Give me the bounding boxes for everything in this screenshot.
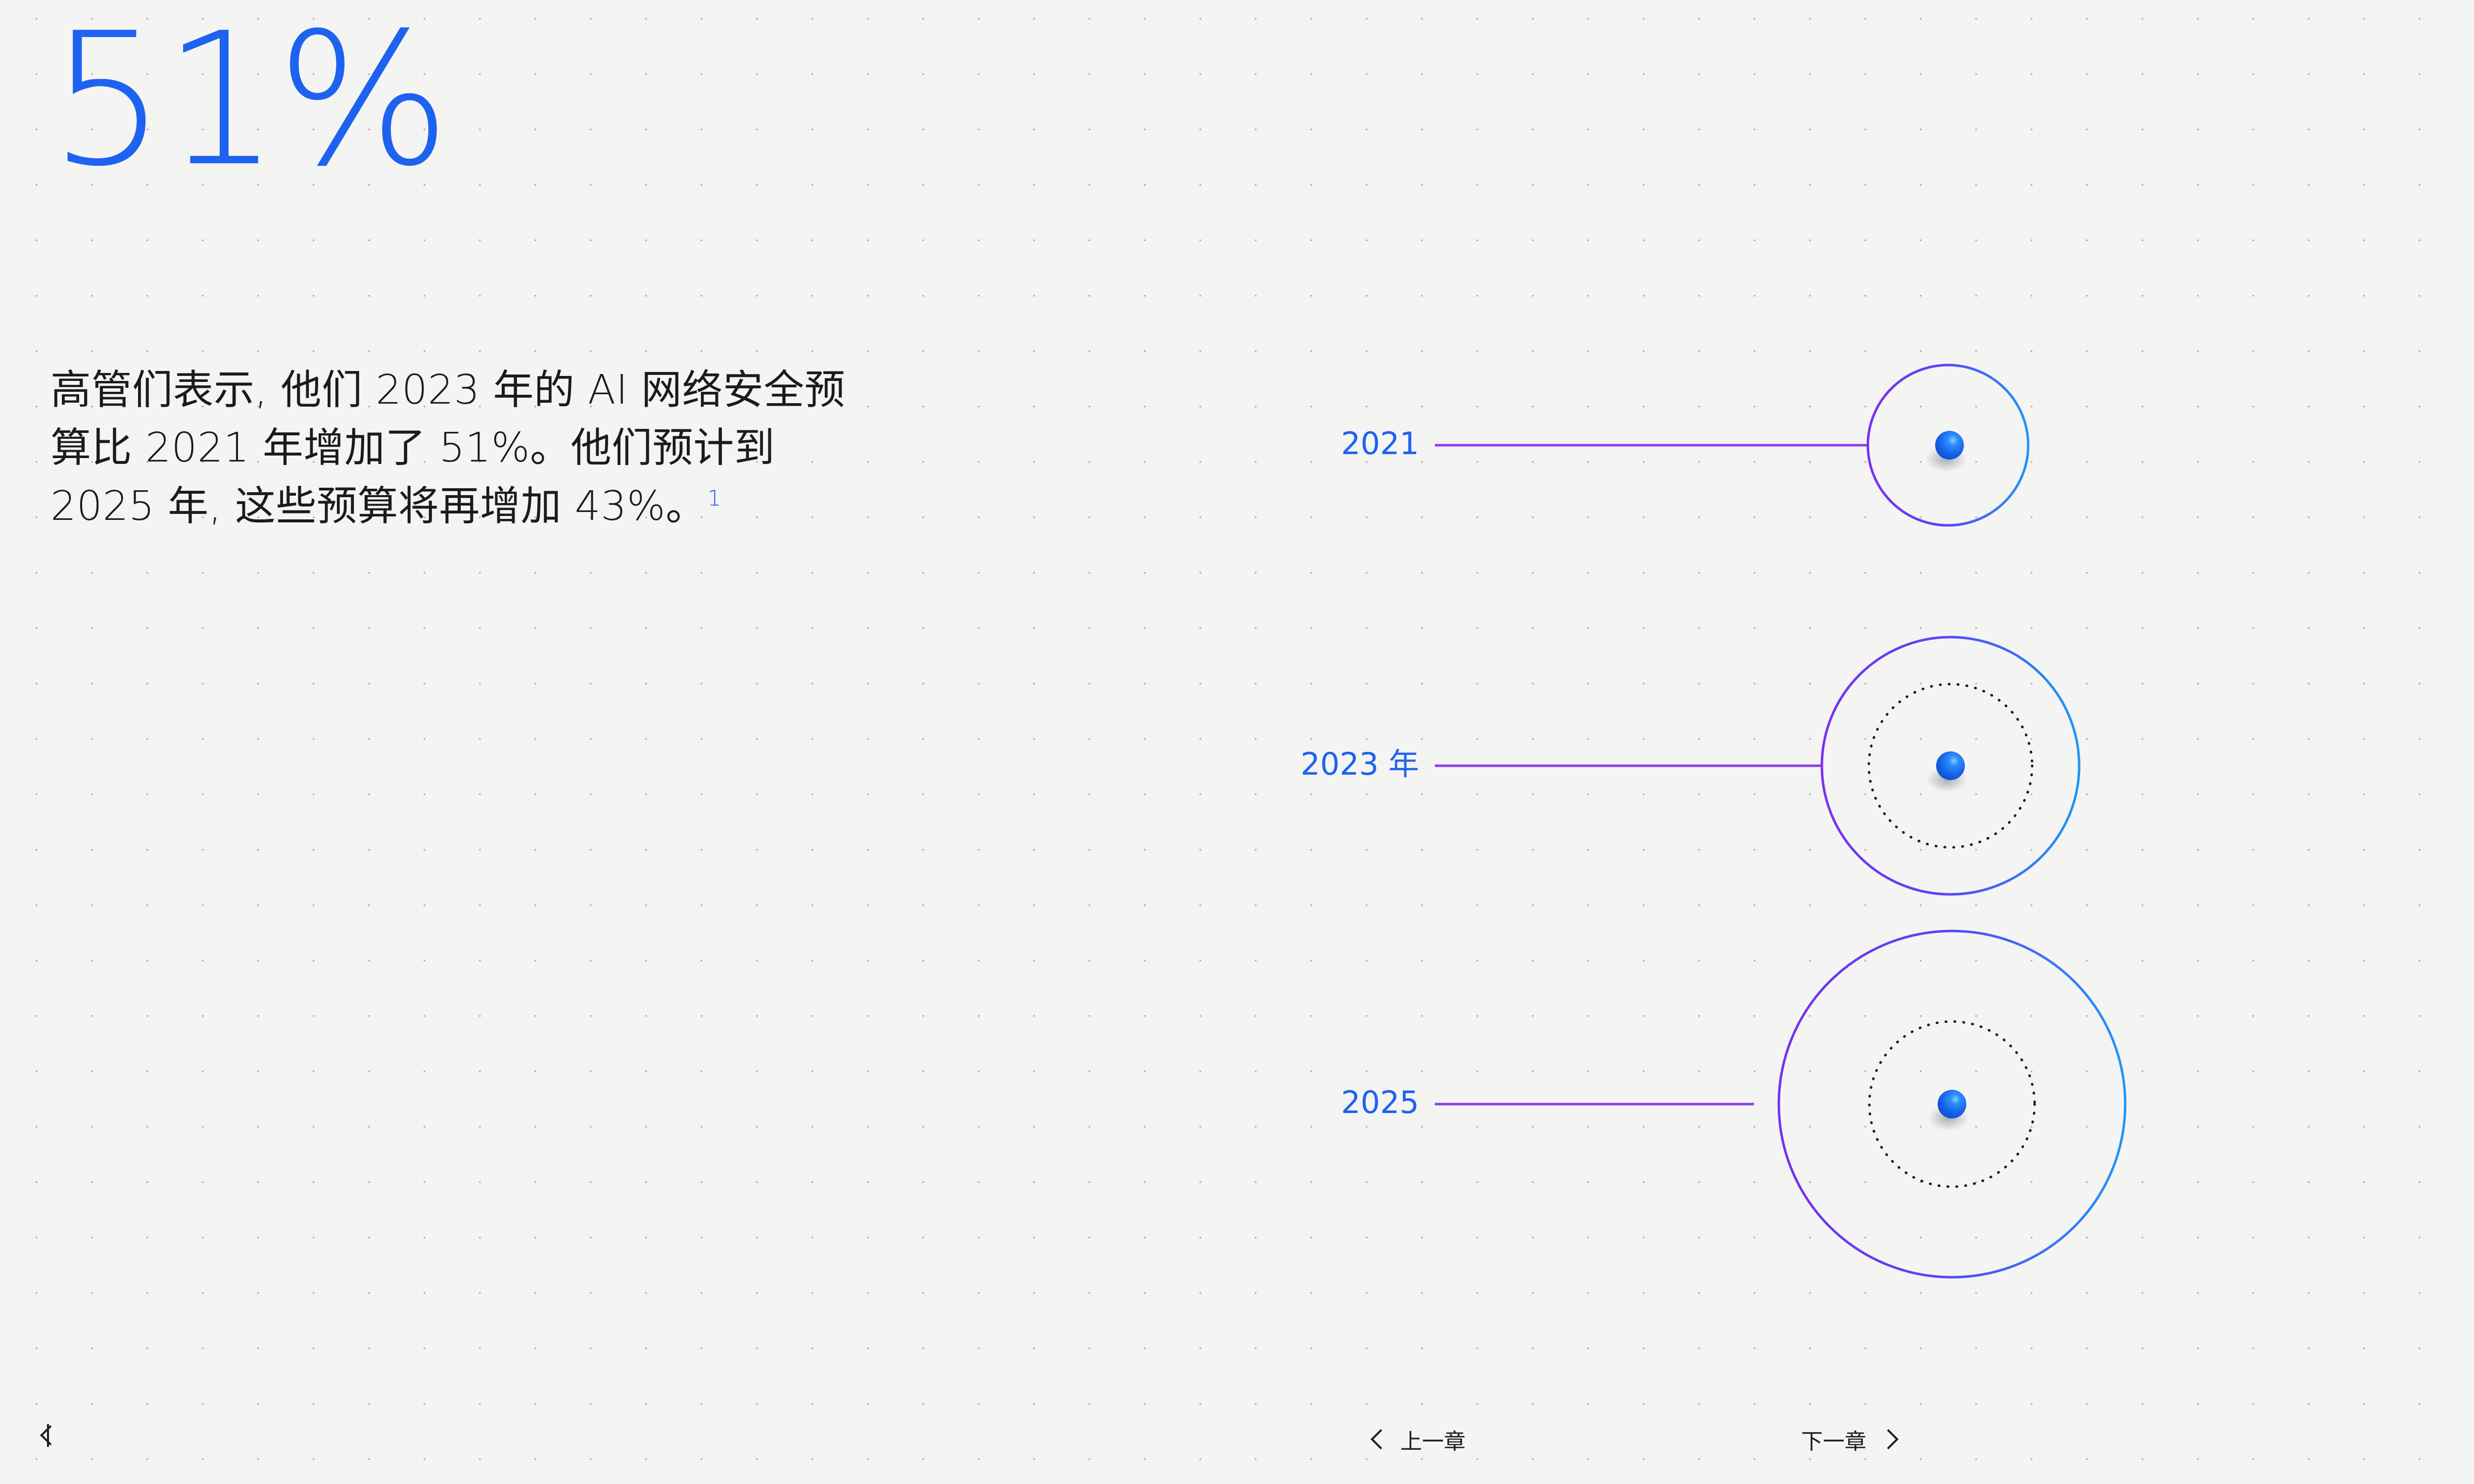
bubble-group-2023: 2023 年 xyxy=(1301,637,2080,894)
bubble-group-2025: 2025 xyxy=(1341,931,2125,1277)
bubble-label-2025[interactable]: 2025 xyxy=(1341,1084,1419,1120)
previous-chapter-label: 上一章 xyxy=(1400,1424,1466,1455)
footer-navigation: 上一章 下一章 8 xyxy=(0,1385,2474,1484)
next-chapter-label: 下一章 xyxy=(1801,1424,1866,1455)
slide-page: 51% 高管们表示, 他们 2023 年的 AI 网络安全预算比 2021 年增… xyxy=(0,0,2474,1484)
page-headline-percentage: 51% xyxy=(49,9,447,192)
bubble-diagram: 2021 2023 年 2025 xyxy=(1286,297,2276,1336)
chevron-left-icon xyxy=(1371,1428,1385,1451)
next-chapter-button[interactable]: 下一章 xyxy=(1801,1424,1896,1455)
go-to-first-page-button[interactable] xyxy=(47,1424,70,1447)
node-sphere-2025 xyxy=(1938,1090,1966,1118)
first-page-icon xyxy=(47,1424,55,1447)
bubble-group-2021: 2021 xyxy=(1341,365,2028,525)
bubble-label-2023[interactable]: 2023 年 xyxy=(1301,746,1420,782)
footnote-reference[interactable]: 1 xyxy=(708,486,722,511)
chevron-right-icon xyxy=(1881,1428,1896,1451)
node-sphere-2021 xyxy=(1935,431,1964,460)
bubble-label-2021[interactable]: 2021 xyxy=(1341,425,1419,462)
body-paragraph: 高管们表示, 他们 2023 年的 AI 网络安全预算比 2021 年增加了 5… xyxy=(50,361,862,535)
left-content-column: 51% 高管们表示, 他们 2023 年的 AI 网络安全预算比 2021 年增… xyxy=(49,0,891,1484)
node-sphere-2023 xyxy=(1936,751,1965,780)
body-paragraph-text: 高管们表示, 他们 2023 年的 AI 网络安全预算比 2021 年增加了 5… xyxy=(50,367,845,530)
previous-chapter-button[interactable]: 上一章 xyxy=(1371,1424,1466,1455)
